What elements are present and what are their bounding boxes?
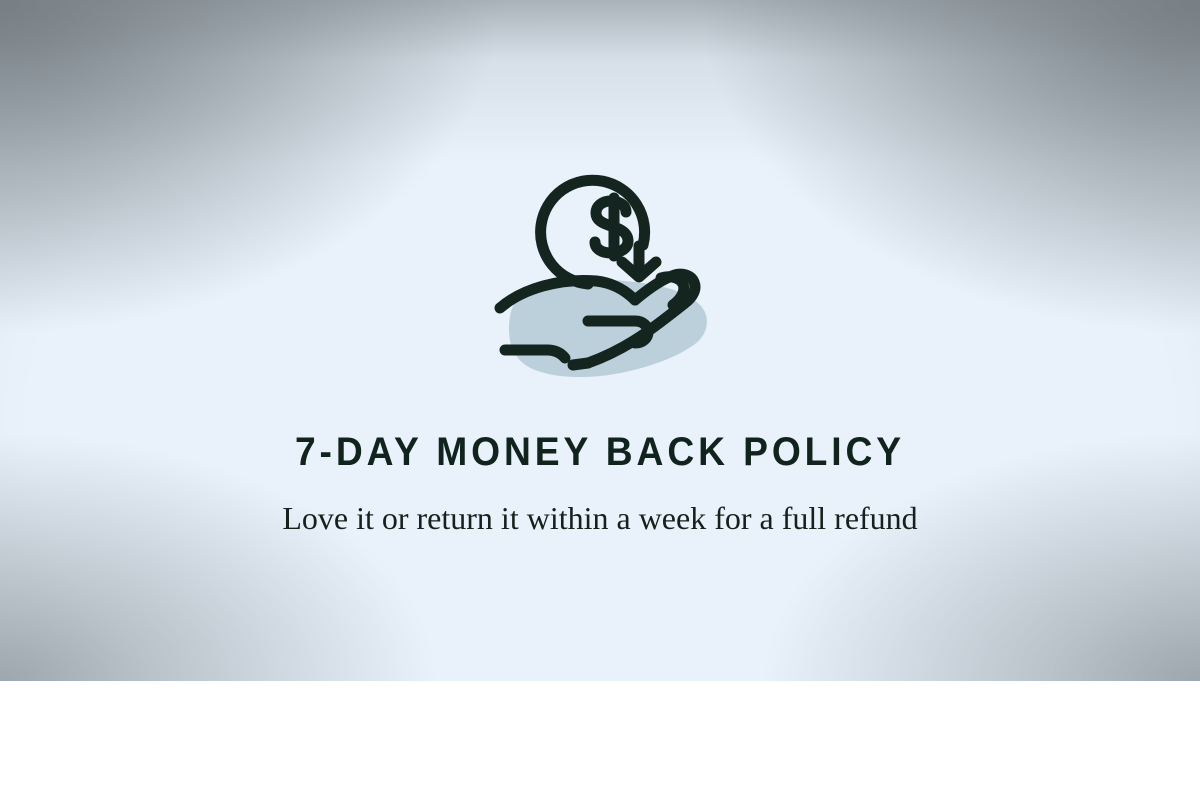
page-subtitle: Love it or return it within a week for a… bbox=[240, 495, 960, 541]
icon-container bbox=[0, 150, 1200, 400]
money-back-policy-card: 7-DAY MONEY BACK POLICY Love it or retur… bbox=[0, 0, 1200, 800]
footer-bar: Rydell (701) 772-7211 rydellchev.com bbox=[0, 681, 1200, 800]
page-title: 7-DAY MONEY BACK POLICY bbox=[42, 430, 1158, 475]
hand-holding-money-refund-icon bbox=[475, 150, 725, 400]
dollar-sign-icon bbox=[595, 198, 628, 256]
